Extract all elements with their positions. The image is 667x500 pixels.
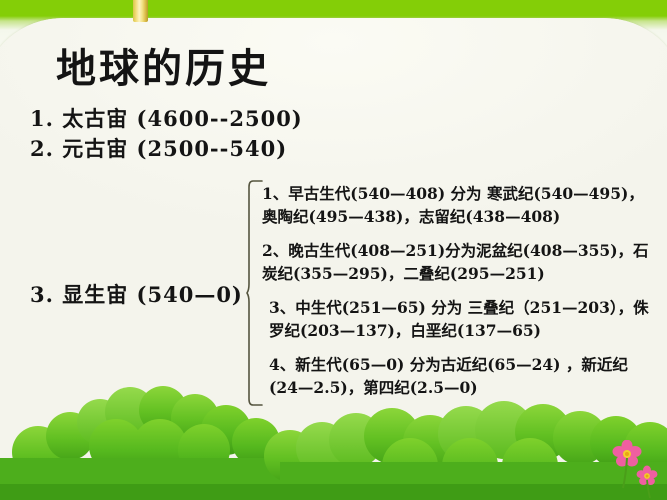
era-list: 1、早古生代(540—408) 分为 寒武纪(540—495)，奥陶纪(495—… [262,182,652,399]
pink-flowers-icon [607,440,667,500]
era-item-2: 2、晚古生代(408—251)分为泥盆纪(408—355)，石炭纪(355—29… [262,239,652,285]
page-title: 地球的历史 [56,36,271,94]
eon-item-2: 2. 元古宙 (2500--540) [30,134,330,164]
eon-item-3: 3. 显生宙 (540—0) [30,279,243,309]
bush-left [0,386,290,500]
eon-list: 1. 太古宙 (4600--2500) 2. 元古宙 (2500--540) [30,104,330,164]
era-item-3: 3、中生代(251—65) 分为 三叠纪（251—203），侏罗纪(203—13… [262,296,652,342]
green-bush-icon [0,380,667,500]
eon-item-1: 1. 太古宙 (4600--2500) [30,104,330,134]
brace-icon [246,180,264,406]
era-item-1: 1、早古生代(540—408) 分为 寒武纪(540—495)，奥陶纪(495—… [262,182,652,228]
slide-canvas: 地球的历史 1. 太古宙 (4600--2500) 2. 元古宙 (2500--… [0,0,667,500]
